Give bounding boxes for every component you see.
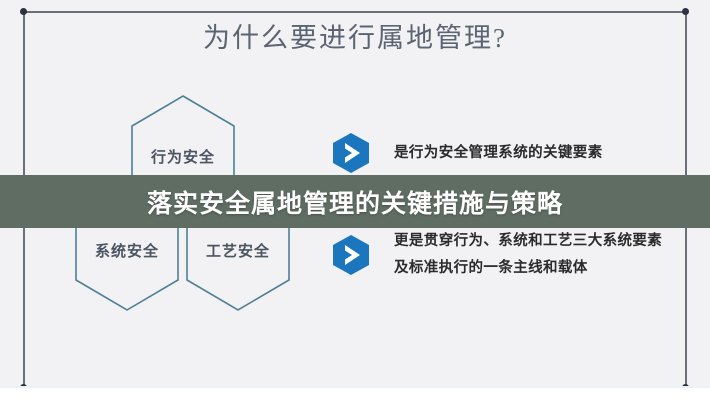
slide-canvas: 为什么要进行属地管理? 行为安全 系统安全 工艺安全 [0,0,710,400]
caption-text: 落实安全属地管理的关键措施与策略 [147,184,563,220]
bullet-line: 是行为安全管理系统的关键要素 [394,140,603,167]
chevron-right-hex-icon [330,234,372,276]
bullet-point-2-text: 更是贯穿行为、系统和工艺三大系统要素 及标准执行的一条主线和载体 [394,228,662,282]
frame-corner-dot-top-left [20,8,27,15]
frame-corner-dot-top-right [682,8,689,15]
slide-title: 为什么要进行属地管理? [0,16,710,55]
bullet-point-1: 是行为安全管理系统的关键要素 [330,132,603,174]
chevron-right-hex-icon [330,132,372,174]
frame-line-top [24,11,686,13]
bullet-line: 更是贯穿行为、系统和工艺三大系统要素 [394,228,662,255]
bullet-line: 及标准执行的一条主线和载体 [394,255,662,282]
bullet-point-1-text: 是行为安全管理系统的关键要素 [394,140,603,167]
bullet-point-2: 更是贯穿行为、系统和工艺三大系统要素 及标准执行的一条主线和载体 [330,228,662,282]
bottom-white-strip [0,388,710,400]
caption-banner: 落实安全属地管理的关键措施与策略 [0,175,710,228]
